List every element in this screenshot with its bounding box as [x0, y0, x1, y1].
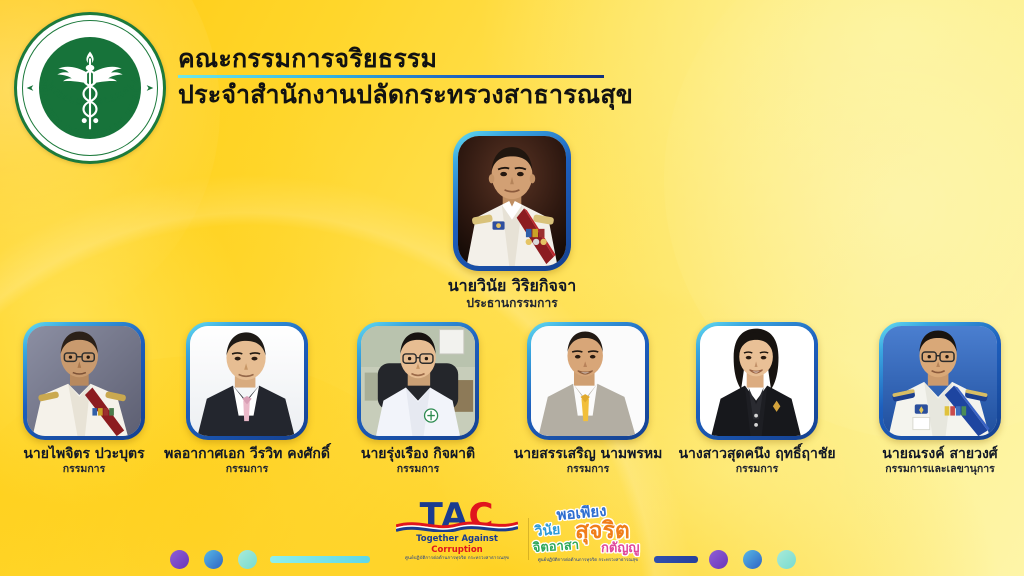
member-card-4[interactable]: นายสรรเสริญ นามพรหม กรรมการ: [504, 322, 672, 476]
member-photo-4: [531, 326, 645, 436]
thai-flag-ribbon-icon: [396, 519, 518, 532]
tac-tagline-part2: Corruption: [431, 545, 482, 555]
member-photo-frame-2: [186, 322, 308, 440]
member-photo-2: [190, 326, 304, 436]
page-title: คณะกรรมการจริยธรรม ประจำสำนักงานปลัดกระท…: [178, 44, 633, 110]
member-name-6: นายณรงค์ สายวงศ์: [856, 445, 1024, 463]
chairman-photo-frame: [453, 131, 571, 271]
tac-tagline: Together Against Corruption: [394, 534, 520, 556]
sufficiency-thai-subtext: ศูนย์ปฏิบัติการต่อต้านการทุจริต กระทรวงส…: [508, 558, 668, 564]
member-photo-6: [883, 326, 997, 436]
title-line-2: ประจำสำนักงานปลัดกระทรวงสาธารณสุข: [178, 79, 633, 110]
sufficiency-campaign-logo[interactable]: พอเพียง วินัย สุจริต จิตอาสา กตัญญู ศูนย…: [508, 505, 668, 564]
chairman-card[interactable]: นายวินัย วิริยกิจจา ประธานกรรมการ: [0, 131, 1024, 311]
member-role-4: กรรมการ: [504, 463, 672, 476]
member-photo-1: [27, 326, 141, 436]
member-role-6: กรรมการและเลขานุการ: [856, 463, 1024, 476]
svg-text:กตัญญู: กตัญญู: [601, 541, 639, 556]
tac-wordmark: TAC: [394, 499, 520, 533]
title-line-1: คณะกรรมการจริยธรรม: [178, 44, 633, 74]
chairman-role: ประธานกรรมการ: [0, 296, 1024, 311]
member-role-3: กรรมการ: [334, 463, 502, 476]
member-role-5: กรรมการ: [673, 463, 841, 476]
chairman-photo: [458, 136, 566, 266]
header: กระทรวงสาธารณสุข MINISTRY OF PUBLIC HEAL…: [0, 0, 1024, 130]
member-name-3: นายรุ่งเรือง กิจผาติ: [334, 445, 502, 463]
title-underline-rule: [178, 75, 604, 78]
member-photo-5: [700, 326, 814, 436]
members-row: นายไพจิตร ปวะบุตร กรรมการ: [0, 322, 1024, 502]
tac-logo[interactable]: TAC Together Against Corruption ศูนย์ปฏิ…: [394, 499, 520, 562]
member-photo-3: [361, 326, 475, 436]
member-photo-frame-1: [23, 322, 145, 440]
member-role-1: กรรมการ: [0, 463, 168, 476]
svg-text:วินัย: วินัย: [533, 522, 561, 540]
member-card-5[interactable]: นางสาวสุดคนึง ฤทธิ์ฤาชัย กรรมการ: [673, 322, 841, 476]
member-name-4: นายสรรเสริญ นามพรหม: [504, 445, 672, 463]
sufficiency-wordmark: พอเพียง วินัย สุจริต จิตอาสา กตัญญู: [513, 505, 663, 557]
member-card-1[interactable]: นายไพจิตร ปวะบุตร กรรมการ: [0, 322, 168, 476]
tac-thai-subtext: ศูนย์ปฏิบัติการต่อต้านการทุจริต กระทรวงส…: [394, 556, 520, 562]
footer: TAC Together Against Corruption ศูนย์ปฏิ…: [0, 496, 1024, 576]
member-photo-frame-3: [357, 322, 479, 440]
member-card-2[interactable]: พลอากาศเอก วีรวิท คงศักดิ์ กรรมการ: [163, 322, 331, 476]
chairman-name: นายวินัย วิริยกิจจา: [0, 276, 1024, 296]
member-photo-frame-5: [696, 322, 818, 440]
svg-text:จิตอาสา: จิตอาสา: [532, 538, 580, 556]
member-name-1: นายไพจิตร ปวะบุตร: [0, 445, 168, 463]
member-name-5: นางสาวสุดคนึง ฤทธิ์ฤาชัย: [673, 445, 841, 463]
member-photo-frame-6: [879, 322, 1001, 440]
member-card-6[interactable]: นายณรงค์ สายวงศ์ กรรมการและเลขานุการ: [856, 322, 1024, 476]
member-name-2: พลอากาศเอก วีรวิท คงศักดิ์: [163, 445, 331, 463]
member-card-3[interactable]: นายรุ่งเรือง กิจผาติ กรรมการ: [334, 322, 502, 476]
member-role-2: กรรมการ: [163, 463, 331, 476]
member-photo-frame-4: [527, 322, 649, 440]
